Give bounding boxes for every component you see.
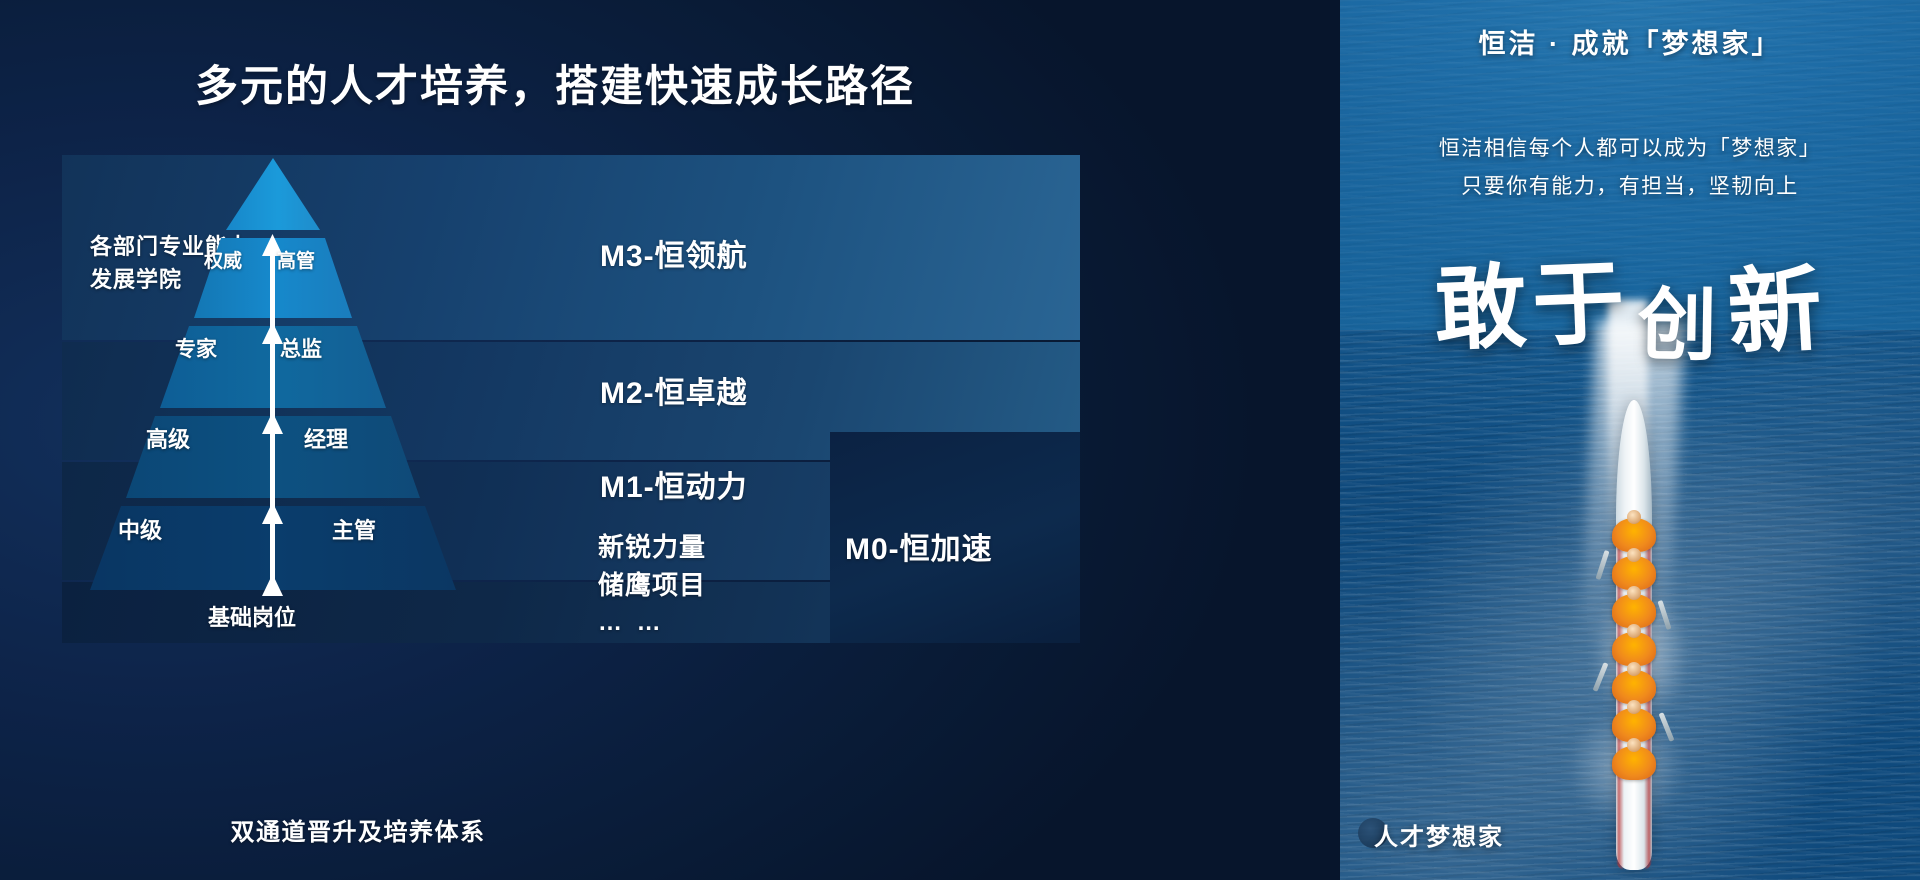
pyramid-level4-management: 主管 (332, 513, 376, 545)
paddler (1612, 632, 1656, 666)
slide-canvas: 多元的人才培养，搭建快速成长路径 各部门专业能力 发展学院 M3-恒领航 M2-… (0, 0, 1920, 880)
career-pyramid: 权威 高管 专家 总监 高级 经理 中级 主管 基础岗位 (90, 150, 610, 650)
pyramid-level1-professional: 权威 (204, 246, 242, 273)
paddler (1612, 594, 1656, 628)
calligraphy-char-4: 新 (1724, 232, 1831, 373)
pyramid-level4-professional: 中级 (118, 513, 162, 545)
pyramid-level3-management: 经理 (304, 422, 348, 454)
program-item-1: 新锐力量 (598, 528, 706, 566)
program-item-2: 储鹰项目 (598, 566, 706, 604)
pyramid-level2-management: 总监 (280, 333, 322, 363)
pyramid-shape (90, 150, 610, 650)
track-label-m0: M0-恒加速 (845, 524, 993, 568)
left-slide: 多元的人才培养，搭建快速成长路径 各部门专业能力 发展学院 M3-恒领航 M2-… (0, 0, 1340, 880)
poster-subtitle: 恒洁相信每个人都可以成为「梦想家」 只要你有能力，有担当，坚韧向上 (1340, 130, 1920, 206)
calligraphy-char-2: 于 (1530, 248, 1632, 360)
pyramid-caption: 双通道晋升及培养体系 (148, 812, 568, 847)
track-label-m2: M2-恒卓越 (600, 368, 748, 412)
pyramid-base-label: 基础岗位 (208, 600, 296, 632)
pyramid-level1-management: 高管 (277, 246, 315, 273)
pyramid-level2-professional: 专家 (175, 333, 217, 363)
program-item-more: … … (598, 604, 706, 642)
page-title: 多元的人才培养，搭建快速成长路径 (0, 52, 1110, 114)
track-label-m3: M3-恒领航 (600, 231, 748, 275)
poster-subtitle-line2: 只要你有能力，有担当，坚韧向上 (1340, 168, 1920, 206)
paddler (1612, 518, 1656, 552)
pyramid-level3-professional: 高级 (146, 422, 190, 454)
programs-list: 新锐力量 储鹰项目 … … (598, 528, 706, 642)
poster-subtitle-line1: 恒洁相信每个人都可以成为「梦想家」 (1340, 130, 1920, 168)
calligraphy-slogan: 敢于创新 (1340, 217, 1920, 372)
paddler (1612, 670, 1656, 704)
track-label-m1: M1-恒动力 (600, 462, 748, 506)
calligraphy-char-3: 创 (1637, 261, 1723, 377)
poster-title: 恒洁 · 成就「梦想家」 (1340, 22, 1920, 61)
paddler (1612, 556, 1656, 590)
right-poster: 恒洁 · 成就「梦想家」 恒洁相信每个人都可以成为「梦想家」 只要你有能力，有担… (1340, 0, 1920, 880)
paddler (1612, 708, 1656, 742)
calligraphy-char-1: 敢 (1432, 252, 1534, 364)
poster-footer-label: 人才梦想家 (1340, 817, 1920, 852)
paddler (1612, 746, 1656, 780)
dragon-boat (1602, 400, 1666, 870)
